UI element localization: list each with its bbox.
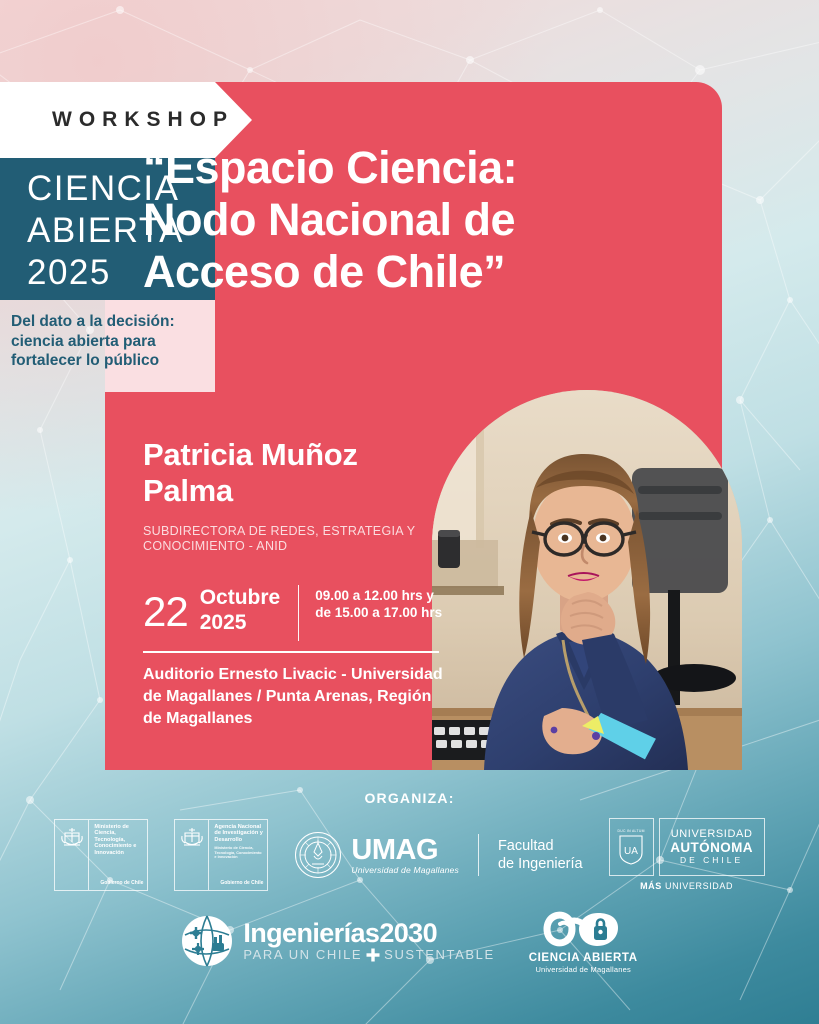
- plus-icon: [366, 948, 380, 962]
- date-divider: [298, 585, 299, 641]
- shield-icon: UA: [618, 834, 644, 866]
- event-time: 09.00 a 12.00 hrs y de 15.00 a 17.00 hrs: [315, 585, 443, 621]
- logo-anid-footer: Gobierno de Chile: [220, 880, 263, 886]
- subtitle-text: Del dato a la decisión: ciencia abierta …: [11, 312, 219, 371]
- ingenierias-tagline-right: SUSTENTABLE: [384, 947, 495, 963]
- speaker-block: Patricia Muñoz Palma SUBDIRECTORA DE RED…: [143, 437, 453, 554]
- umag-seal-icon: [294, 831, 342, 879]
- event-year: 2025: [200, 610, 281, 635]
- logo-anid-sub: Ministerio de Ciencia, Tecnología, Conoc…: [214, 846, 264, 860]
- autonoma-name-box: UNIVERSIDAD AUTÓNOMA DE CHILE: [659, 818, 765, 876]
- logo-umag-sub: Universidad de Magallanes: [351, 865, 459, 875]
- globe-gear-icon: [181, 915, 233, 967]
- logo-umag-word: UMAG: [351, 835, 459, 865]
- autonoma-tagline: MÁS UNIVERSIDAD: [609, 881, 765, 891]
- poster-root: WORKSHOP CIENCIA ABIERTA 2025 Del dato a…: [0, 0, 819, 1024]
- logo-ministerio-ciencia: Ministerio de Ciencia, Tecnología, Conoc…: [54, 819, 148, 891]
- autonoma-shield-motto: DUC IN ALTUM: [617, 829, 644, 833]
- sponsor-logo-row-secondary: Ingenierías2030 PARA UN CHILE SUSTENTABL…: [0, 908, 819, 974]
- autonoma-shield-box: DUC IN ALTUM UA: [609, 818, 654, 876]
- sponsor-logo-row-primary: Ministerio de Ciencia, Tecnología, Conoc…: [0, 818, 819, 891]
- speaker-name: Patricia Muñoz Palma: [143, 437, 453, 509]
- logo-umag: UMAG Universidad de Magallanes Facultad …: [294, 831, 582, 879]
- ingenierias-wordmark: Ingenierías2030: [243, 919, 494, 947]
- event-date-row: 22 Octubre 2025 09.00 a 12.00 hrs y de 1…: [143, 585, 443, 641]
- event-month: Octubre: [200, 585, 281, 610]
- ingenierias-word: Ingenierías: [243, 918, 379, 948]
- logo-anid: Agencia Nacional de Investigación y Desa…: [174, 819, 268, 891]
- autonoma-tagline-bold: MÁS: [640, 881, 662, 891]
- svg-text:UA: UA: [624, 846, 638, 857]
- logo-ministerio-name: Ministerio de Ciencia, Tecnología, Conoc…: [94, 824, 144, 857]
- logo-umag-faculty-line1: Facultad: [498, 837, 583, 855]
- ingenierias-tagline: PARA UN CHILE SUSTENTABLE: [243, 947, 494, 963]
- chile-coat-of-arms-icon: [55, 820, 89, 890]
- logo-umag-faculty-line2: de Ingeniería: [498, 855, 583, 873]
- ciencia-abierta-line2: Universidad de Magallanes: [529, 965, 638, 974]
- horizontal-rule: [143, 651, 439, 653]
- event-day: 22: [143, 585, 188, 633]
- umag-divider: [478, 834, 479, 876]
- ingenierias-year: 2030: [379, 918, 437, 948]
- logo-ciencia-abierta-umag: CIENCIA ABIERTA Universidad de Magallane…: [529, 908, 638, 974]
- workshop-kicker-label: WORKSHOP: [52, 108, 234, 132]
- speaker-role: SUBDIRECTORA DE REDES, ESTRATEGIA Y CONO…: [143, 524, 453, 554]
- open-science-infinity-lock-icon: [542, 908, 624, 950]
- logo-anid-name: Agencia Nacional de Investigación y Desa…: [214, 824, 264, 844]
- speaker-portrait-illustration: [432, 390, 742, 770]
- page-title: “Espacio Ciencia: Nodo Nacional de Acces…: [143, 142, 613, 298]
- autonoma-line3: DE CHILE: [680, 854, 743, 867]
- organiza-label: ORGANIZA:: [0, 790, 819, 806]
- logo-universidad-autonoma: DUC IN ALTUM UA UNIVERSIDAD AUTÓNOMA DE …: [609, 818, 765, 891]
- chile-coat-of-arms-icon: [175, 820, 209, 890]
- ingenierias-tagline-left: PARA UN CHILE: [243, 947, 362, 963]
- speaker-photo: [432, 390, 742, 770]
- logo-ministerio-footer: Gobierno de Chile: [100, 880, 143, 886]
- autonoma-line1: UNIVERSIDAD: [671, 828, 753, 841]
- event-venue: Auditorio Ernesto Livacic - Universidad …: [143, 664, 443, 730]
- logo-ingenierias-2030: Ingenierías2030 PARA UN CHILE SUSTENTABL…: [181, 915, 494, 967]
- ciencia-abierta-line1: CIENCIA ABIERTA: [529, 952, 638, 964]
- autonoma-line2: AUTÓNOMA: [670, 841, 753, 854]
- autonoma-tagline-rest: UNIVERSIDAD: [665, 881, 733, 891]
